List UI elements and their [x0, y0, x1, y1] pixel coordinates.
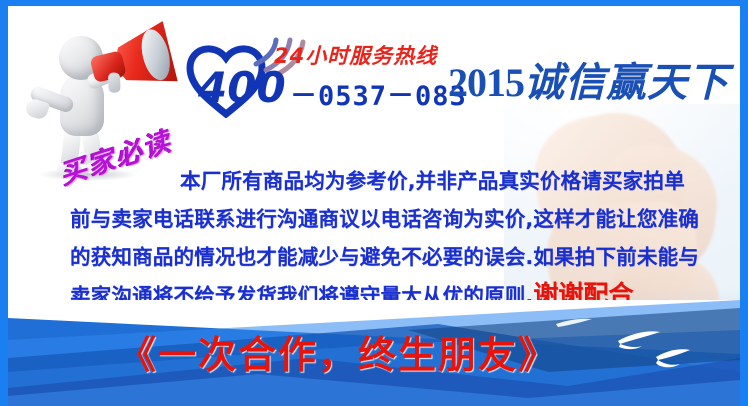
year-slogan: 2015诚信赢天下 [448, 50, 738, 108]
hotline-logo: 400 24小时服务热线 －0537－083 [178, 34, 398, 118]
year-slogan-year: 2015 [448, 60, 524, 105]
year-slogan-phrase: 诚信赢天下 [524, 60, 729, 105]
promo-banner: 400 24小时服务热线 －0537－083 2015诚信赢天下 买家必读 本厂… [0, 0, 748, 406]
banner-canvas: 400 24小时服务热线 －0537－083 2015诚信赢天下 买家必读 本厂… [8, 6, 740, 406]
hotline-service-label: 24小时服务热线 [274, 40, 437, 70]
bottom-slogan: 《一次合作，终生朋友》 [118, 324, 558, 379]
megaphone-grip [108, 72, 121, 92]
notice-line-2: 前与卖家电话联系进行沟通商议以电话咨询为实价,这样才能让您准确 [70, 200, 730, 238]
notice-line-1: 本厂所有商品均为参考价,并非产品真实价格请买家拍单 [70, 162, 730, 200]
hotline-phone-number: －0537－083 [290, 74, 467, 113]
notice-line-3: 的获知商品的情况也才能减少与避免不必要的误会.如果拍下前未能与 [70, 238, 730, 276]
notice-paragraph: 本厂所有商品均为参考价,并非产品真实价格请买家拍单 前与卖家电话联系进行沟通商议… [70, 162, 730, 314]
logo-400-text: 400 [197, 63, 286, 112]
megaphone-icon [81, 21, 180, 106]
